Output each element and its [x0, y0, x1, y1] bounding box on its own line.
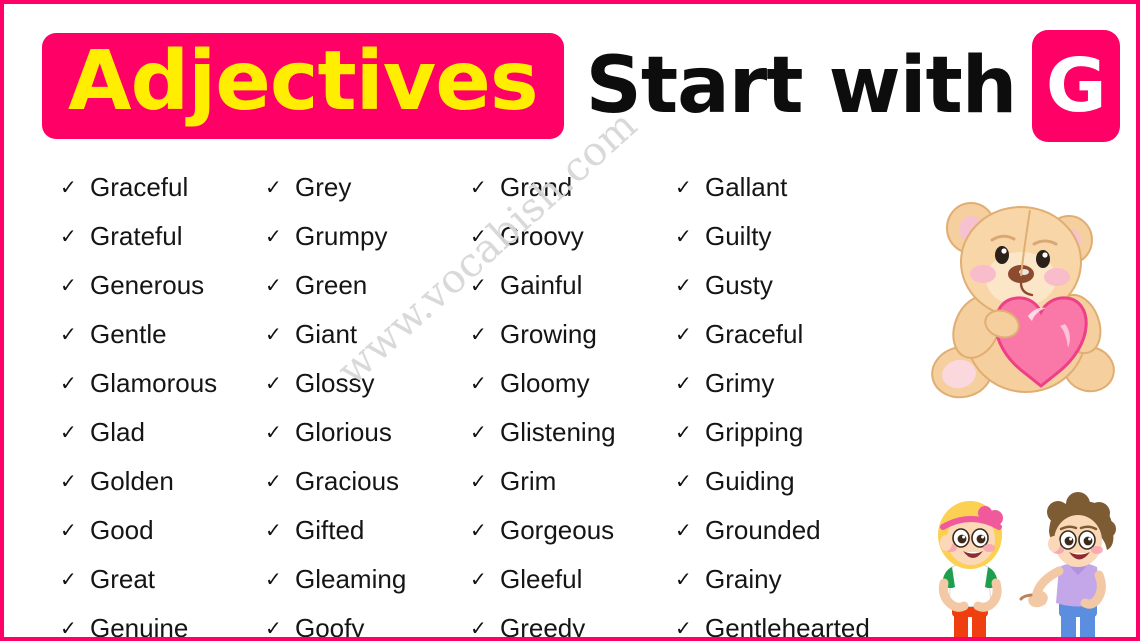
title-highlight-badge: Adjectives: [42, 33, 564, 139]
list-item: ✓Glossy: [265, 358, 470, 407]
word-label: Goofy: [295, 615, 364, 641]
word-label: Gentle: [90, 321, 167, 347]
check-icon: ✓: [265, 177, 282, 197]
word-label: Great: [90, 566, 155, 592]
word-label: Grim: [500, 468, 556, 494]
list-item: ✓Genuine: [60, 603, 265, 641]
word-label: Glistening: [500, 419, 616, 445]
word-label: Gorgeous: [500, 517, 614, 543]
list-item: ✓Grounded: [675, 505, 880, 554]
list-item: ✓Gloomy: [470, 358, 675, 407]
list-item: ✓Greedy: [470, 603, 675, 641]
word-label: Greedy: [500, 615, 585, 641]
word-label: Generous: [90, 272, 204, 298]
word-label: Grumpy: [295, 223, 387, 249]
word-label: Golden: [90, 468, 174, 494]
poster-header: Adjectives Start with G: [4, 26, 1140, 146]
check-icon: ✓: [60, 177, 77, 197]
check-icon: ✓: [60, 471, 77, 491]
list-item: ✓Grumpy: [265, 211, 470, 260]
word-label: Glorious: [295, 419, 392, 445]
word-label: Growing: [500, 321, 597, 347]
list-item: ✓Growing: [470, 309, 675, 358]
word-label: Gleaming: [295, 566, 406, 592]
list-item: ✓Good: [60, 505, 265, 554]
page-title-rest: Start with: [586, 47, 1017, 125]
list-item: ✓Grateful: [60, 211, 265, 260]
word-label: Grey: [295, 174, 351, 200]
word-label: Gusty: [705, 272, 773, 298]
check-icon: ✓: [265, 275, 282, 295]
page-title-highlight: Adjectives: [68, 34, 538, 129]
word-column-4: ✓Gallant ✓Guilty ✓Gusty ✓Graceful ✓Grimy…: [675, 162, 880, 641]
children-talking-icon: [909, 487, 1134, 639]
list-item: ✓Gainful: [470, 260, 675, 309]
list-item: ✓Glorious: [265, 407, 470, 456]
check-icon: ✓: [470, 324, 487, 344]
word-label: Grateful: [90, 223, 183, 249]
check-icon: ✓: [60, 520, 77, 540]
word-label: Groovy: [500, 223, 584, 249]
check-icon: ✓: [675, 275, 692, 295]
check-icon: ✓: [470, 177, 487, 197]
list-item: ✓Generous: [60, 260, 265, 309]
check-icon: ✓: [675, 226, 692, 246]
list-item: ✓Grainy: [675, 554, 880, 603]
check-icon: ✓: [265, 422, 282, 442]
check-icon: ✓: [675, 177, 692, 197]
check-icon: ✓: [675, 471, 692, 491]
list-item: ✓Grey: [265, 162, 470, 211]
check-icon: ✓: [265, 373, 282, 393]
word-label: Glamorous: [90, 370, 217, 396]
list-item: ✓Great: [60, 554, 265, 603]
list-item: ✓Glad: [60, 407, 265, 456]
poster-canvas: Adjectives Start with G ✓Graceful ✓Grate…: [0, 0, 1140, 641]
word-label: Graceful: [90, 174, 188, 200]
list-item: ✓Grand: [470, 162, 675, 211]
list-item: ✓Gallant: [675, 162, 880, 211]
word-label: Gleeful: [500, 566, 582, 592]
check-icon: ✓: [675, 520, 692, 540]
list-item: ✓Green: [265, 260, 470, 309]
check-icon: ✓: [470, 226, 487, 246]
word-label: Graceful: [705, 321, 803, 347]
check-icon: ✓: [675, 422, 692, 442]
word-label: Gloomy: [500, 370, 590, 396]
check-icon: ✓: [60, 324, 77, 344]
list-item: ✓Groovy: [470, 211, 675, 260]
check-icon: ✓: [265, 569, 282, 589]
check-icon: ✓: [470, 471, 487, 491]
check-icon: ✓: [675, 569, 692, 589]
word-label: Gallant: [705, 174, 787, 200]
word-column-3: ✓Grand ✓Groovy ✓Gainful ✓Growing ✓Gloomy…: [470, 162, 675, 641]
check-icon: ✓: [265, 520, 282, 540]
list-item: ✓Graceful: [675, 309, 880, 358]
list-item: ✓Gracious: [265, 456, 470, 505]
list-item: ✓Goofy: [265, 603, 470, 641]
check-icon: ✓: [470, 275, 487, 295]
list-item: ✓Glistening: [470, 407, 675, 456]
word-label: Grand: [500, 174, 572, 200]
word-label: Gentlehearted: [705, 615, 870, 641]
check-icon: ✓: [675, 618, 692, 638]
check-icon: ✓: [265, 618, 282, 638]
check-icon: ✓: [265, 324, 282, 344]
list-item: ✓Gripping: [675, 407, 880, 456]
check-icon: ✓: [60, 373, 77, 393]
list-item: ✓Gorgeous: [470, 505, 675, 554]
list-item: ✓Guilty: [675, 211, 880, 260]
word-label: Glossy: [295, 370, 374, 396]
word-label: Grimy: [705, 370, 774, 396]
list-item: ✓Gentle: [60, 309, 265, 358]
word-label: Gracious: [295, 468, 399, 494]
letter-badge-text: G: [1046, 49, 1107, 123]
word-label: Good: [90, 517, 154, 543]
check-icon: ✓: [60, 618, 77, 638]
word-label: Giant: [295, 321, 357, 347]
check-icon: ✓: [60, 275, 77, 295]
check-icon: ✓: [470, 373, 487, 393]
word-label: Grainy: [705, 566, 782, 592]
word-grid: ✓Graceful ✓Grateful ✓Generous ✓Gentle ✓G…: [60, 162, 930, 641]
word-label: Gifted: [295, 517, 364, 543]
list-item: ✓Gentlehearted: [675, 603, 880, 641]
check-icon: ✓: [470, 618, 487, 638]
word-column-2: ✓Grey ✓Grumpy ✓Green ✓Giant ✓Glossy ✓Glo…: [265, 162, 470, 641]
list-item: ✓Grim: [470, 456, 675, 505]
word-label: Gripping: [705, 419, 803, 445]
list-item: ✓Gleaming: [265, 554, 470, 603]
word-label: Grounded: [705, 517, 821, 543]
list-item: ✓Gusty: [675, 260, 880, 309]
list-item: ✓Guiding: [675, 456, 880, 505]
check-icon: ✓: [60, 422, 77, 442]
check-icon: ✓: [265, 471, 282, 491]
check-icon: ✓: [60, 569, 77, 589]
check-icon: ✓: [265, 226, 282, 246]
word-label: Gainful: [500, 272, 582, 298]
word-label: Glad: [90, 419, 145, 445]
word-label: Guiding: [705, 468, 795, 494]
list-item: ✓Glamorous: [60, 358, 265, 407]
check-icon: ✓: [675, 324, 692, 344]
word-label: Genuine: [90, 615, 188, 641]
letter-badge: G: [1032, 30, 1120, 142]
check-icon: ✓: [470, 422, 487, 442]
word-label: Guilty: [705, 223, 771, 249]
teddy-bear-icon: [929, 184, 1124, 409]
word-label: Green: [295, 272, 367, 298]
check-icon: ✓: [60, 226, 77, 246]
check-icon: ✓: [470, 569, 487, 589]
check-icon: ✓: [470, 520, 487, 540]
list-item: ✓Golden: [60, 456, 265, 505]
list-item: ✓Graceful: [60, 162, 265, 211]
list-item: ✓Grimy: [675, 358, 880, 407]
list-item: ✓Gleeful: [470, 554, 675, 603]
word-column-1: ✓Graceful ✓Grateful ✓Generous ✓Gentle ✓G…: [60, 162, 265, 641]
list-item: ✓Giant: [265, 309, 470, 358]
check-icon: ✓: [675, 373, 692, 393]
list-item: ✓Gifted: [265, 505, 470, 554]
